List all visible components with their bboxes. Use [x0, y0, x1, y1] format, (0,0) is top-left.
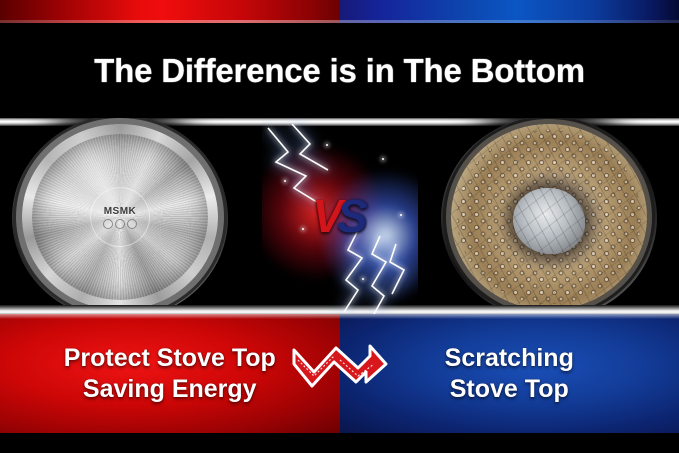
left-panel-line-2: Saving Energy: [83, 374, 257, 405]
left-benefit-panel: Protect Stove Top Saving Energy: [0, 314, 340, 433]
versus-badge: V S: [262, 118, 418, 314]
versus-letter-s: S: [337, 193, 368, 239]
right-pan-bottom-surface: [451, 124, 647, 310]
logo-icon-2: [115, 219, 125, 229]
left-pan-bottom-surface: MSMK: [22, 124, 218, 310]
scratch-overlay: [451, 124, 647, 310]
infographic-canvas: The Difference is in The Bottom MSMK: [0, 0, 679, 453]
right-panel-line-1: Scratching: [445, 343, 574, 374]
logo-sub-icons: [103, 219, 137, 229]
top-color-strip: [0, 0, 679, 23]
versus-zone: V S: [262, 118, 418, 314]
logo-icon-1: [103, 219, 113, 229]
bottom-black-strip: [0, 433, 679, 453]
msmk-logo-medallion: MSMK: [90, 187, 150, 247]
page-title: The Difference is in The Bottom: [94, 52, 585, 90]
right-panel-line-2: Stove Top: [450, 374, 569, 405]
headline-area: The Difference is in The Bottom: [0, 23, 679, 118]
brand-logo-text: MSMK: [104, 206, 137, 217]
red-zigzag-down-arrow-icon: [292, 342, 388, 394]
logo-icon-3: [127, 219, 137, 229]
right-benefit-panel: Scratching Stove Top: [340, 314, 679, 433]
left-panel-line-1: Protect Stove Top: [64, 343, 276, 374]
